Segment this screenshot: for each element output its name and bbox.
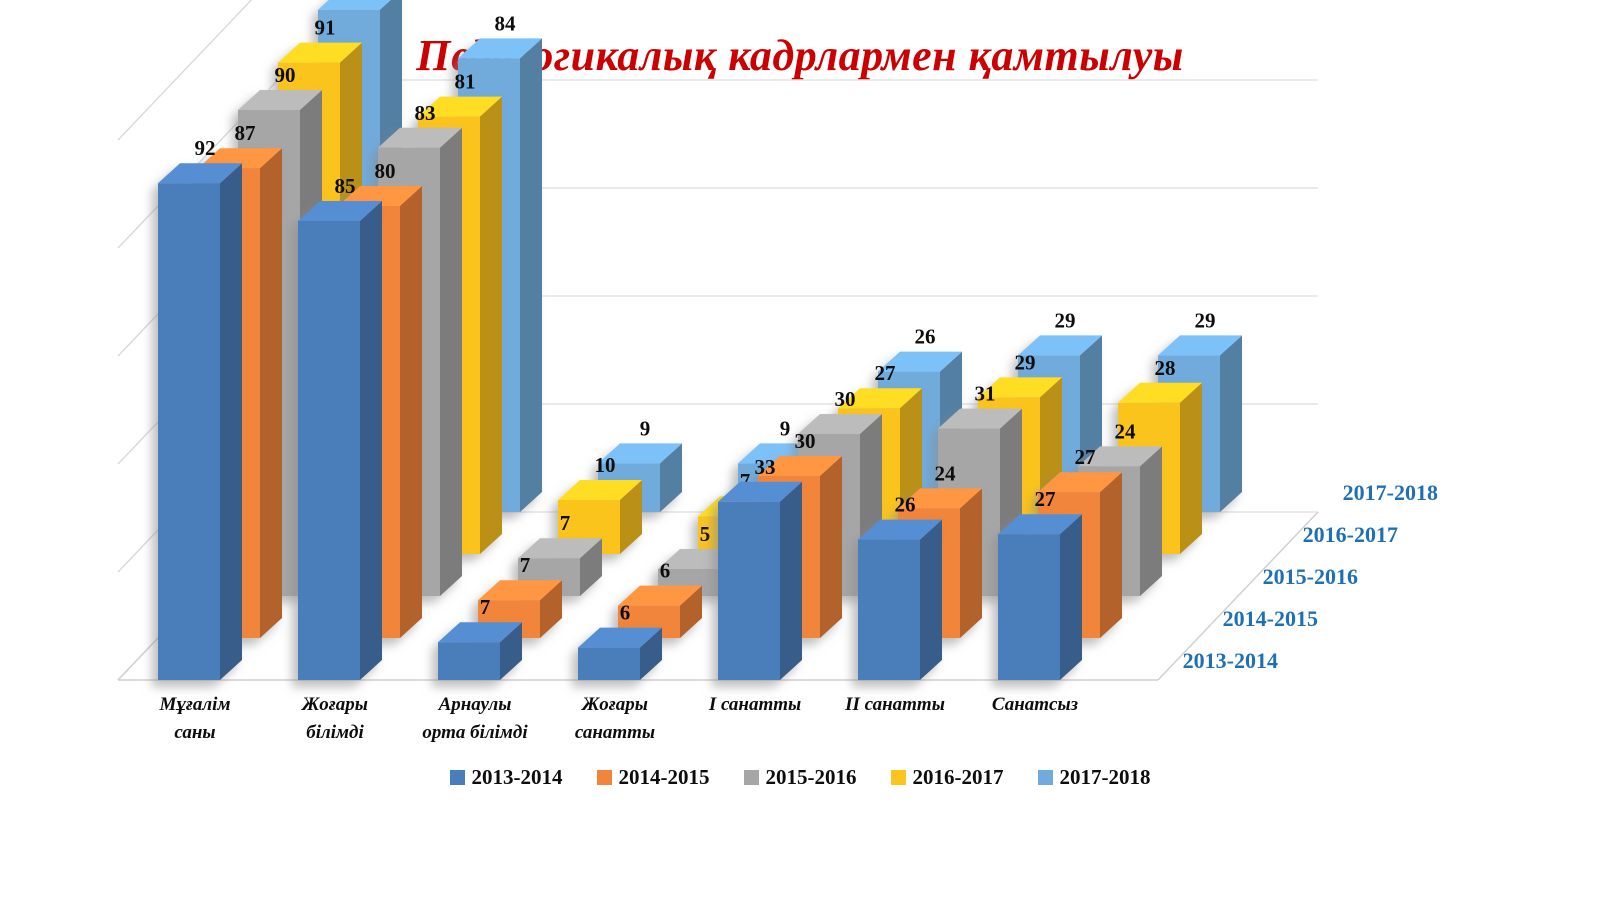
bar-front-face bbox=[578, 648, 640, 680]
legend-item-2017-2018[interactable]: 2017-2018 bbox=[1038, 765, 1151, 790]
depth-axis-label: 2013-2014 bbox=[1183, 648, 1278, 673]
category-axis: МұғалімсаныЖоғарыбілімдіАрнаулыорта білі… bbox=[159, 694, 1079, 743]
bar-side-face bbox=[780, 482, 802, 680]
bar-side-face bbox=[360, 201, 382, 680]
bar-value-label: 6 bbox=[620, 601, 631, 625]
category-label: II санатты bbox=[844, 694, 945, 715]
bar-value-label: 24 bbox=[935, 461, 957, 485]
bar-value-label: 90 bbox=[275, 63, 296, 87]
legend-label: 2014-2015 bbox=[619, 765, 710, 790]
category-label: білімді bbox=[306, 722, 364, 743]
bar-side-face bbox=[440, 128, 462, 596]
bar-side-face bbox=[220, 163, 242, 680]
bar-2013-2014-Жоғары санатты[interactable] bbox=[578, 628, 662, 680]
bar-value-label: 85 bbox=[335, 174, 356, 198]
bar-2013-2014-Санатсыз[interactable] bbox=[998, 514, 1082, 680]
bar-value-label: 30 bbox=[835, 387, 856, 411]
category-label: I санатты bbox=[708, 694, 801, 715]
bar-side-face bbox=[400, 186, 422, 638]
legend-swatch-icon bbox=[891, 770, 906, 785]
depth-axis-label: 2016-2017 bbox=[1303, 522, 1398, 547]
bar-value-label: 81 bbox=[455, 70, 476, 94]
bar-side-face bbox=[960, 488, 982, 638]
bar-side-face bbox=[520, 38, 542, 512]
legend-item-2014-2015[interactable]: 2014-2015 bbox=[597, 765, 710, 790]
bar-value-label: 7 bbox=[560, 511, 571, 535]
bar-value-label: 27 bbox=[1075, 445, 1096, 469]
depth-axis-label: 2017-2018 bbox=[1343, 480, 1438, 505]
legend-swatch-icon bbox=[597, 770, 612, 785]
bar-value-label: 29 bbox=[1055, 308, 1076, 332]
category-label: Мұғалім bbox=[159, 694, 231, 715]
legend-swatch-icon bbox=[1038, 770, 1053, 785]
bar-front-face bbox=[858, 540, 920, 680]
depth-axis-label: 2014-2015 bbox=[1223, 606, 1318, 631]
legend-label: 2016-2017 bbox=[913, 765, 1004, 790]
legend-label: 2015-2016 bbox=[766, 765, 857, 790]
bar-value-label: 92 bbox=[195, 136, 216, 160]
bar-value-label: 27 bbox=[1035, 487, 1056, 511]
bar-value-label: 26 bbox=[895, 493, 916, 517]
legend-item-2016-2017[interactable]: 2016-2017 bbox=[891, 765, 1004, 790]
bar-side-face bbox=[920, 520, 942, 680]
category-label: Арнаулы bbox=[438, 694, 512, 715]
category-label: санатты bbox=[575, 722, 655, 743]
depth-axis-label: 2015-2016 bbox=[1263, 564, 1358, 589]
bar-side-face bbox=[820, 456, 842, 638]
bar-2013-2014-Мұғалім саны[interactable] bbox=[158, 163, 242, 680]
category-label: Жоғары bbox=[580, 694, 648, 715]
bar-value-label: 87 bbox=[235, 121, 256, 145]
bar-value-label: 7 bbox=[520, 553, 531, 577]
legend-swatch-icon bbox=[450, 770, 465, 785]
bar-side-face bbox=[480, 97, 502, 554]
bar-value-label: 30 bbox=[795, 429, 816, 453]
legend-label: 2013-2014 bbox=[472, 765, 563, 790]
bar-value-label: 33 bbox=[755, 455, 776, 479]
legend-label: 2017-2018 bbox=[1060, 765, 1151, 790]
bar-side-face bbox=[1220, 335, 1242, 512]
legend-item-2015-2016[interactable]: 2015-2016 bbox=[744, 765, 857, 790]
bar-value-label: 9 bbox=[640, 416, 651, 440]
bar-2013-2014-II санатты[interactable] bbox=[858, 520, 942, 680]
bar-value-label: 91 bbox=[315, 16, 336, 40]
bar-value-label: 5 bbox=[700, 522, 711, 546]
category-label: Санатсыз bbox=[992, 694, 1079, 715]
bar-front-face bbox=[158, 183, 220, 680]
bar-value-label: 29 bbox=[1195, 308, 1216, 332]
category-label: саны bbox=[174, 722, 215, 743]
bar-2013-2014-Арнаулы орта білімді[interactable] bbox=[438, 622, 522, 680]
legend-swatch-icon bbox=[744, 770, 759, 785]
bar-2013-2014-Жоғары білімді[interactable] bbox=[298, 201, 382, 680]
bar-value-label: 10 bbox=[595, 453, 616, 477]
bar-2013-2014-I санатты[interactable] bbox=[718, 482, 802, 680]
bar-value-label: 27 bbox=[875, 361, 896, 385]
bar-value-label: 26 bbox=[915, 325, 936, 349]
bar-value-label: 83 bbox=[415, 101, 436, 125]
bar-front-face bbox=[298, 221, 360, 680]
bar-side-face bbox=[1060, 514, 1082, 680]
bar-front-face bbox=[438, 642, 500, 680]
bar-value-label: 7 bbox=[480, 595, 491, 619]
bar-value-label: 24 bbox=[1115, 419, 1137, 443]
bar-front-face bbox=[998, 534, 1060, 680]
bar-value-label: 31 bbox=[975, 382, 996, 406]
bar-value-label: 6 bbox=[660, 559, 671, 583]
legend-item-2013-2014[interactable]: 2013-2014 bbox=[450, 765, 563, 790]
bar-value-label: 80 bbox=[375, 159, 396, 183]
bar-value-label: 9 bbox=[780, 416, 791, 440]
bar-value-label: 84 bbox=[495, 11, 517, 35]
bars-layer: 9384992629299181107272928908375303124878… bbox=[158, 0, 1242, 680]
bar-side-face bbox=[1140, 446, 1162, 596]
bar-front-face bbox=[718, 502, 780, 680]
bar-side-face bbox=[1180, 383, 1202, 554]
bar-side-face bbox=[260, 148, 282, 638]
bar-value-label: 29 bbox=[1015, 350, 1036, 374]
chart-canvas: Педагогикалық кадрлармен қамтылуы 938499… bbox=[0, 0, 1600, 900]
bar-side-face bbox=[1100, 472, 1122, 638]
category-label: орта білімді bbox=[422, 722, 528, 743]
bar-value-label: 28 bbox=[1155, 356, 1176, 380]
chart-legend: 2013-20142014-20152015-20162016-20172017… bbox=[0, 765, 1600, 790]
category-label: Жоғары bbox=[300, 694, 368, 715]
